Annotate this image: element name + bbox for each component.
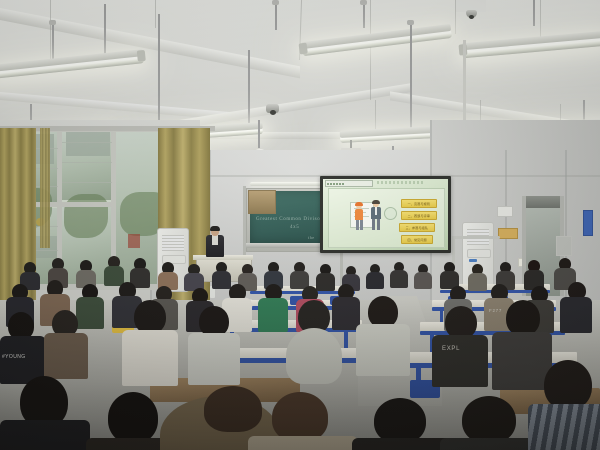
wall-rail [452, 236, 500, 239]
projection-screen: 一、竞赛与规则 二、赛题与评审 三、参赛与组队 四、常见问题 [320, 176, 451, 253]
ac-badge [469, 259, 477, 262]
student: #YOUNG [0, 312, 46, 378]
ceiling-seam [540, 0, 541, 40]
light-rod [533, 0, 535, 26]
slide-bullet-2: 二、赛题与评审 [401, 211, 437, 220]
student [104, 256, 124, 284]
slide-header-strip [377, 181, 425, 184]
student [184, 264, 204, 290]
light-rod [410, 22, 412, 132]
ceiling-seam [370, 0, 371, 100]
toolbar-dot [330, 183, 332, 185]
lamp-endcap [137, 50, 146, 62]
slide-bullet-4: 四、常见问题 [401, 235, 433, 244]
student [414, 264, 432, 288]
student [158, 262, 178, 288]
light-rod-cap [407, 20, 414, 25]
chalk-line: Greatest Common Divisor [256, 217, 323, 222]
light-rod-cap [272, 0, 279, 5]
security-camera [456, 0, 486, 30]
light-rod-cap [360, 0, 367, 5]
student-foreground [0, 376, 90, 450]
chalk-line: 4x5 [290, 225, 299, 230]
student [366, 264, 384, 288]
student-foreground [440, 396, 540, 450]
ac-grille [162, 235, 184, 251]
fan-rod [258, 120, 260, 148]
slide-watermark [384, 207, 397, 220]
toolbar-dot [333, 183, 335, 185]
light-rod-cap [49, 20, 56, 25]
toolbar-dot [339, 183, 341, 185]
student-foreground [528, 360, 600, 450]
student [76, 260, 96, 286]
window-curtain[interactable] [40, 128, 50, 248]
student [560, 282, 592, 330]
wall-panel-blue [583, 210, 593, 236]
student [258, 284, 288, 330]
door-header [526, 196, 560, 208]
wall-cabinet[interactable] [248, 190, 276, 214]
lecture-hall-photo: Greatest Common Divisor 4x5 the [0, 0, 600, 450]
security-camera [262, 104, 284, 122]
camera-lens [270, 110, 276, 115]
student [188, 306, 240, 378]
camera-lens [469, 15, 474, 19]
student [122, 300, 178, 378]
slide-bullet-1: 一、竞赛与规则 [401, 199, 437, 208]
presenter [205, 227, 225, 261]
slide-bullet-text: 二、赛题与评审 [408, 213, 431, 218]
door-hardware[interactable] [556, 236, 572, 256]
slide-bullet-text: 三、参赛与组队 [406, 225, 429, 230]
student [390, 262, 408, 288]
toolbar-dot [336, 183, 338, 185]
slide-bullet-text: 四、常见问题 [407, 237, 426, 242]
lamp-endcap [299, 43, 308, 55]
student [286, 300, 342, 380]
presenter-hair [210, 226, 220, 231]
slide-bullet-3: 三、参赛与组队 [399, 223, 435, 232]
ceiling-seam [155, 0, 156, 28]
student-foreground [352, 398, 452, 450]
toolbar-dot [327, 183, 329, 185]
student [440, 262, 459, 288]
student [524, 260, 544, 288]
light-rod [363, 2, 365, 28]
student: EXPL [432, 306, 488, 382]
student [356, 296, 410, 372]
light-rod [248, 50, 250, 132]
wall-switch-box[interactable] [497, 206, 513, 217]
presenter-shirt [212, 235, 218, 245]
light-rod [275, 2, 277, 30]
student [44, 310, 88, 374]
ac-panel [467, 249, 491, 258]
light-rod [158, 14, 160, 130]
slide-bullet-text: 一、竞赛与规则 [408, 201, 431, 206]
student [290, 262, 309, 288]
student-foreground [248, 392, 358, 450]
jacket-text-expl: EXPL [442, 346, 460, 352]
toolbar-dot [342, 183, 344, 185]
chalk-line: the [308, 235, 315, 240]
slide-toolbar[interactable] [325, 180, 373, 187]
slide-content: 一、竞赛与规则 二、赛题与评审 三、参赛与组队 四、常见问题 [328, 188, 445, 248]
slide-character-orange [353, 203, 365, 231]
screen-surface: 一、竞赛与规则 二、赛题与评审 三、参赛与组队 四、常见问题 [323, 179, 448, 250]
wall-sign [498, 228, 518, 239]
hoodie-text-young: #YOUNG [2, 354, 26, 360]
ceiling-seam [50, 0, 51, 60]
slide-character-suit [369, 201, 383, 231]
